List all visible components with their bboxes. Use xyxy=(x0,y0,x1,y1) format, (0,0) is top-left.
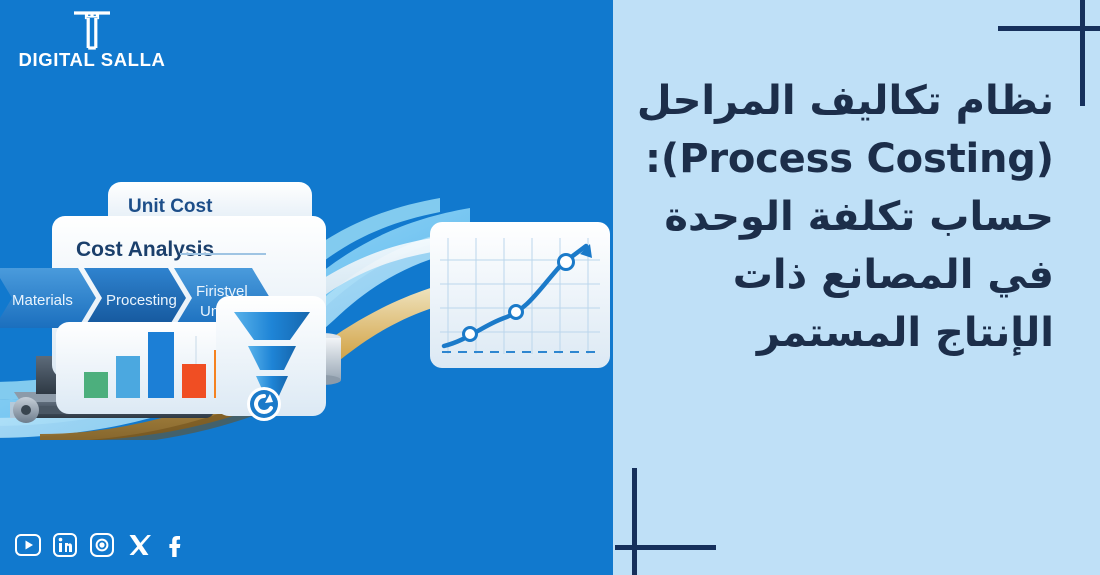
brand-logo[interactable]: DIGITAL SALLA xyxy=(12,4,172,70)
brand-name: DIGITAL SALLA xyxy=(12,50,172,70)
linkedin-icon[interactable] xyxy=(51,531,79,559)
cost-analysis-title: Cost Analysis xyxy=(76,238,214,261)
step-label-materials: Materials xyxy=(12,292,73,309)
banner-root: DIGITAL SALLA xyxy=(0,0,1100,575)
step-label-processing: Procesting xyxy=(106,292,177,309)
funnel-card xyxy=(216,296,326,421)
right-content-panel: نظام تكاليف المراحل (Process Costing): ح… xyxy=(613,0,1100,575)
crosshair-top-right-vertical xyxy=(1080,0,1085,106)
line-chart-card xyxy=(430,222,610,368)
bar-4 xyxy=(182,364,206,398)
bar-1 xyxy=(84,372,108,398)
process-step-materials: Materials xyxy=(0,268,96,328)
bar-3 xyxy=(148,332,174,398)
illustration-svg: Unit Cost Cost Analysis Materials xyxy=(0,150,613,440)
social-links[interactable] xyxy=(14,531,190,559)
left-blue-panel: DIGITAL SALLA xyxy=(0,0,613,575)
unit-cost-title: Unit Cost xyxy=(128,196,213,217)
process-costing-illustration: Unit Cost Cost Analysis Materials xyxy=(0,150,613,440)
letter-t-icon xyxy=(12,4,172,52)
bar-2 xyxy=(116,356,140,398)
instagram-icon[interactable] xyxy=(88,531,116,559)
youtube-icon[interactable] xyxy=(14,531,42,559)
page-title: نظام تكاليف المراحل (Process Costing): ح… xyxy=(633,72,1054,362)
x-twitter-icon[interactable] xyxy=(125,531,153,559)
crosshair-bottom-left-vertical xyxy=(632,468,637,575)
crosshair-bottom-left-horizontal xyxy=(615,545,716,550)
facebook-icon[interactable] xyxy=(162,531,190,559)
